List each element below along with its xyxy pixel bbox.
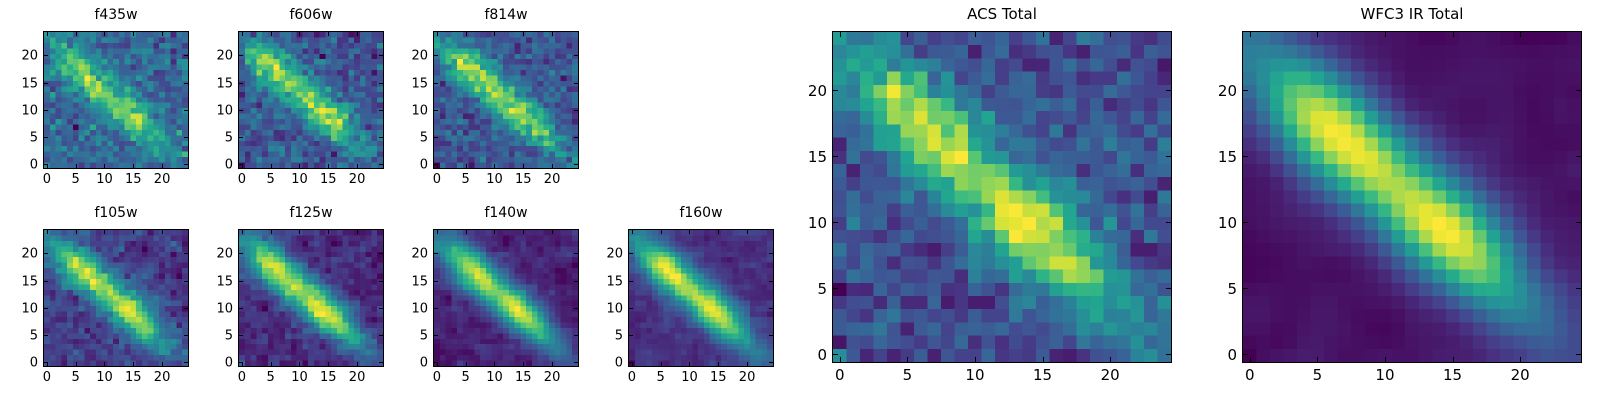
- xtick-label: 15: [1443, 366, 1462, 384]
- ytick-label: 15: [411, 274, 428, 289]
- xtick-mark: [907, 357, 908, 362]
- ytick-label: 20: [1218, 82, 1237, 100]
- xtick-mark-top: [466, 230, 467, 234]
- ytick-mark-right: [1576, 222, 1581, 223]
- ytick-mark-right: [1576, 156, 1581, 157]
- ytick-mark: [833, 156, 838, 157]
- panel-title-f160w: f160w: [628, 205, 774, 221]
- ytick-label: 10: [411, 103, 428, 118]
- ytick-mark: [44, 253, 48, 254]
- ytick-label: 15: [411, 76, 428, 91]
- ytick-label: 0: [1227, 346, 1237, 364]
- xtick-label: 20: [739, 370, 756, 385]
- ytick-mark-right: [574, 335, 578, 336]
- heatmap-image-wfc3-total: [1243, 32, 1581, 362]
- plot-area-f140w: [433, 229, 579, 367]
- ytick-mark: [629, 335, 633, 336]
- ytick-label: 15: [808, 148, 827, 166]
- ytick-mark-right: [1576, 354, 1581, 355]
- xtick-label: 20: [544, 172, 561, 187]
- xtick-label: 15: [1033, 366, 1052, 384]
- xtick-label: 0: [433, 172, 441, 187]
- ytick-mark-right: [574, 55, 578, 56]
- ytick-label: 5: [420, 131, 428, 146]
- xtick-label: 15: [515, 172, 532, 187]
- xtick-mark-top: [840, 32, 841, 37]
- ytick-mark-right: [574, 110, 578, 111]
- xtick-mark: [162, 164, 163, 168]
- panel-title-f105w: f105w: [43, 205, 189, 221]
- xtick-label: 5: [903, 366, 913, 384]
- xtick-label: 20: [544, 370, 561, 385]
- xtick-mark-top: [47, 230, 48, 234]
- ytick-label: 5: [1227, 280, 1237, 298]
- ytick-mark-right: [1576, 90, 1581, 91]
- ytick-mark: [239, 335, 243, 336]
- ytick-mark-right: [1166, 156, 1171, 157]
- xtick-mark-top: [437, 230, 438, 234]
- xtick-mark: [1043, 357, 1044, 362]
- xtick-mark: [271, 362, 272, 366]
- xtick-mark-top: [47, 32, 48, 36]
- xtick-label: 10: [96, 370, 113, 385]
- panel-title-f140w: f140w: [433, 205, 579, 221]
- heatmap-image-f140w: [434, 230, 578, 366]
- ytick-mark-right: [574, 253, 578, 254]
- xtick-label: 5: [72, 172, 80, 187]
- xtick-label: 20: [1101, 366, 1120, 384]
- xtick-mark-top: [271, 32, 272, 36]
- ytick-mark: [434, 253, 438, 254]
- ytick-mark-right: [379, 137, 383, 138]
- xtick-mark-top: [494, 230, 495, 234]
- xtick-label: 15: [710, 370, 727, 385]
- ytick-mark: [1243, 288, 1248, 289]
- xtick-label: 5: [657, 370, 665, 385]
- ytick-label: 0: [817, 346, 827, 364]
- ytick-label: 15: [21, 274, 38, 289]
- ytick-mark: [434, 362, 438, 363]
- ytick-mark-right: [1166, 354, 1171, 355]
- ytick-mark-right: [379, 335, 383, 336]
- figure-canvas: f435w0510152005101520f606w05101520051015…: [0, 0, 1600, 400]
- ytick-mark: [434, 110, 438, 111]
- ytick-label: 5: [420, 329, 428, 344]
- ytick-mark-right: [574, 308, 578, 309]
- panel-acs-total: ACS Total0510152005101520: [832, 5, 1172, 393]
- xtick-mark-top: [328, 32, 329, 36]
- panel-title-f814w: f814w: [433, 7, 579, 23]
- ytick-label: 20: [216, 49, 233, 64]
- ytick-mark: [239, 164, 243, 165]
- panel-f140w: f140w0510152005101520: [433, 205, 579, 397]
- ytick-label: 10: [808, 214, 827, 232]
- xtick-label: 0: [628, 370, 636, 385]
- ytick-mark-right: [184, 362, 188, 363]
- panel-title-f125w: f125w: [238, 205, 384, 221]
- xtick-label: 10: [291, 370, 308, 385]
- ytick-mark: [833, 90, 838, 91]
- xtick-mark: [466, 164, 467, 168]
- xtick-label: 0: [433, 370, 441, 385]
- xtick-mark: [689, 362, 690, 366]
- panel-wfc3-total: WFC3 IR Total0510152005101520: [1242, 5, 1582, 393]
- xtick-mark-top: [162, 32, 163, 36]
- heatmap-image-f435w: [44, 32, 188, 168]
- ytick-mark-right: [574, 362, 578, 363]
- panel-f125w: f125w0510152005101520: [238, 205, 384, 397]
- ytick-label: 0: [420, 158, 428, 173]
- ytick-label: 15: [1218, 148, 1237, 166]
- ytick-mark: [1243, 90, 1248, 91]
- ytick-mark: [44, 55, 48, 56]
- xtick-mark: [104, 362, 105, 366]
- ytick-label: 0: [30, 356, 38, 371]
- xtick-mark: [747, 362, 748, 366]
- xtick-mark-top: [907, 32, 908, 37]
- ytick-label: 5: [225, 329, 233, 344]
- plot-area-wfc3-total: [1242, 31, 1582, 363]
- ytick-mark: [44, 110, 48, 111]
- xtick-mark: [299, 362, 300, 366]
- ytick-mark: [1243, 156, 1248, 157]
- plot-area-acs-total: [832, 31, 1172, 363]
- xtick-mark-top: [632, 230, 633, 234]
- ytick-label: 10: [411, 301, 428, 316]
- xtick-mark: [357, 362, 358, 366]
- xtick-label: 20: [349, 172, 366, 187]
- ytick-mark-right: [379, 55, 383, 56]
- ytick-label: 5: [817, 280, 827, 298]
- xtick-mark: [523, 164, 524, 168]
- ytick-mark-right: [184, 164, 188, 165]
- ytick-label: 10: [606, 301, 623, 316]
- ytick-mark-right: [379, 281, 383, 282]
- heatmap-image-acs-total: [833, 32, 1171, 362]
- ytick-mark-right: [184, 253, 188, 254]
- xtick-mark-top: [1520, 32, 1521, 37]
- xtick-mark-top: [299, 230, 300, 234]
- ytick-mark: [239, 281, 243, 282]
- xtick-label: 0: [1245, 366, 1255, 384]
- plot-area-f435w: [43, 31, 189, 169]
- ytick-label: 15: [216, 76, 233, 91]
- xtick-mark-top: [1453, 32, 1454, 37]
- panel-title-wfc3-total: WFC3 IR Total: [1242, 5, 1582, 23]
- ytick-label: 15: [216, 274, 233, 289]
- ytick-label: 10: [21, 103, 38, 118]
- ytick-mark-right: [379, 308, 383, 309]
- xtick-mark-top: [1110, 32, 1111, 37]
- xtick-label: 20: [154, 172, 171, 187]
- ytick-mark-right: [184, 83, 188, 84]
- ytick-label: 5: [30, 329, 38, 344]
- xtick-mark-top: [76, 230, 77, 234]
- xtick-mark-top: [1043, 32, 1044, 37]
- xtick-label: 5: [72, 370, 80, 385]
- xtick-label: 10: [486, 172, 503, 187]
- ytick-mark: [629, 253, 633, 254]
- panel-title-acs-total: ACS Total: [832, 5, 1172, 23]
- ytick-mark-right: [1166, 288, 1171, 289]
- ytick-mark: [629, 281, 633, 282]
- xtick-mark-top: [494, 32, 495, 36]
- ytick-label: 20: [21, 49, 38, 64]
- xtick-mark: [1250, 357, 1251, 362]
- ytick-mark: [239, 83, 243, 84]
- xtick-mark-top: [1250, 32, 1251, 37]
- heatmap-image-f105w: [44, 230, 188, 366]
- plot-area-f160w: [628, 229, 774, 367]
- xtick-label: 0: [238, 172, 246, 187]
- xtick-mark: [328, 164, 329, 168]
- xtick-label: 10: [1375, 366, 1394, 384]
- xtick-label: 5: [267, 370, 275, 385]
- ytick-mark-right: [379, 362, 383, 363]
- xtick-mark: [718, 362, 719, 366]
- plot-area-f105w: [43, 229, 189, 367]
- xtick-label: 5: [462, 370, 470, 385]
- xtick-mark-top: [975, 32, 976, 37]
- ytick-mark: [44, 362, 48, 363]
- xtick-label: 0: [43, 172, 51, 187]
- heatmap-image-f606w: [239, 32, 383, 168]
- ytick-mark: [434, 335, 438, 336]
- xtick-mark: [494, 164, 495, 168]
- xtick-mark: [552, 362, 553, 366]
- ytick-mark-right: [574, 137, 578, 138]
- xtick-mark: [661, 362, 662, 366]
- xtick-label: 20: [349, 370, 366, 385]
- ytick-mark: [629, 362, 633, 363]
- ytick-label: 20: [21, 247, 38, 262]
- ytick-mark-right: [184, 335, 188, 336]
- ytick-label: 20: [606, 247, 623, 262]
- xtick-mark: [104, 164, 105, 168]
- ytick-mark-right: [184, 281, 188, 282]
- ytick-label: 5: [615, 329, 623, 344]
- ytick-label: 0: [30, 158, 38, 173]
- xtick-mark: [552, 164, 553, 168]
- xtick-mark: [466, 362, 467, 366]
- panel-f606w: f606w0510152005101520: [238, 7, 384, 199]
- xtick-mark-top: [689, 230, 690, 234]
- xtick-mark-top: [718, 230, 719, 234]
- xtick-mark-top: [1385, 32, 1386, 37]
- xtick-mark-top: [162, 230, 163, 234]
- xtick-mark-top: [242, 32, 243, 36]
- ytick-mark-right: [379, 164, 383, 165]
- ytick-mark-right: [769, 253, 773, 254]
- xtick-mark: [76, 164, 77, 168]
- xtick-mark: [840, 357, 841, 362]
- ytick-mark: [434, 137, 438, 138]
- xtick-mark-top: [552, 32, 553, 36]
- xtick-mark-top: [357, 32, 358, 36]
- xtick-label: 10: [96, 172, 113, 187]
- ytick-mark: [1243, 222, 1248, 223]
- ytick-mark-right: [769, 335, 773, 336]
- ytick-mark: [434, 55, 438, 56]
- xtick-label: 20: [1511, 366, 1530, 384]
- ytick-label: 0: [420, 356, 428, 371]
- ytick-mark-right: [379, 83, 383, 84]
- xtick-mark: [1453, 357, 1454, 362]
- ytick-mark: [629, 308, 633, 309]
- ytick-mark-right: [769, 281, 773, 282]
- plot-area-f125w: [238, 229, 384, 367]
- ytick-mark-right: [574, 83, 578, 84]
- ytick-label: 0: [225, 158, 233, 173]
- xtick-mark-top: [523, 230, 524, 234]
- heatmap-image-f814w: [434, 32, 578, 168]
- xtick-mark: [1110, 357, 1111, 362]
- xtick-mark: [299, 164, 300, 168]
- ytick-mark-right: [184, 55, 188, 56]
- ytick-label: 15: [606, 274, 623, 289]
- ytick-mark-right: [1166, 222, 1171, 223]
- ytick-mark-right: [379, 253, 383, 254]
- ytick-label: 20: [216, 247, 233, 262]
- ytick-mark: [239, 362, 243, 363]
- xtick-label: 10: [681, 370, 698, 385]
- ytick-mark: [434, 164, 438, 165]
- xtick-mark-top: [466, 32, 467, 36]
- xtick-label: 0: [238, 370, 246, 385]
- xtick-label: 20: [154, 370, 171, 385]
- xtick-label: 5: [267, 172, 275, 187]
- ytick-mark: [434, 281, 438, 282]
- ytick-mark: [239, 308, 243, 309]
- xtick-mark-top: [747, 230, 748, 234]
- xtick-label: 0: [835, 366, 845, 384]
- ytick-mark-right: [1166, 90, 1171, 91]
- ytick-mark: [44, 83, 48, 84]
- xtick-mark-top: [523, 32, 524, 36]
- xtick-mark: [494, 362, 495, 366]
- ytick-label: 5: [225, 131, 233, 146]
- xtick-mark-top: [328, 230, 329, 234]
- xtick-label: 10: [291, 172, 308, 187]
- plot-area-f606w: [238, 31, 384, 169]
- xtick-mark-top: [1317, 32, 1318, 37]
- ytick-mark: [44, 308, 48, 309]
- xtick-label: 15: [125, 172, 142, 187]
- xtick-mark-top: [104, 32, 105, 36]
- xtick-label: 10: [486, 370, 503, 385]
- xtick-mark: [162, 362, 163, 366]
- ytick-mark: [1243, 354, 1248, 355]
- ytick-mark: [239, 110, 243, 111]
- ytick-mark: [239, 137, 243, 138]
- panel-title-f606w: f606w: [238, 7, 384, 23]
- ytick-label: 20: [808, 82, 827, 100]
- ytick-mark-right: [379, 110, 383, 111]
- xtick-mark-top: [271, 230, 272, 234]
- panel-f160w: f160w0510152005101520: [628, 205, 774, 397]
- xtick-mark-top: [552, 230, 553, 234]
- ytick-mark-right: [574, 281, 578, 282]
- ytick-mark: [434, 308, 438, 309]
- heatmap-image-f160w: [629, 230, 773, 366]
- ytick-mark: [833, 354, 838, 355]
- xtick-mark: [271, 164, 272, 168]
- xtick-label: 5: [1313, 366, 1323, 384]
- xtick-mark: [1317, 357, 1318, 362]
- xtick-mark: [357, 164, 358, 168]
- ytick-label: 10: [216, 103, 233, 118]
- ytick-mark-right: [1576, 288, 1581, 289]
- ytick-mark: [833, 222, 838, 223]
- xtick-mark: [1385, 357, 1386, 362]
- ytick-mark-right: [769, 362, 773, 363]
- xtick-label: 15: [320, 370, 337, 385]
- xtick-mark: [523, 362, 524, 366]
- xtick-mark-top: [661, 230, 662, 234]
- ytick-mark: [44, 335, 48, 336]
- heatmap-image-f125w: [239, 230, 383, 366]
- xtick-mark: [975, 357, 976, 362]
- ytick-label: 0: [615, 356, 623, 371]
- ytick-mark: [434, 83, 438, 84]
- xtick-label: 0: [43, 370, 51, 385]
- ytick-label: 20: [411, 247, 428, 262]
- xtick-mark-top: [437, 32, 438, 36]
- xtick-mark: [76, 362, 77, 366]
- ytick-mark: [239, 253, 243, 254]
- ytick-label: 10: [1218, 214, 1237, 232]
- ytick-mark: [44, 164, 48, 165]
- ytick-mark: [833, 288, 838, 289]
- ytick-mark: [239, 55, 243, 56]
- xtick-label: 5: [462, 172, 470, 187]
- xtick-mark-top: [299, 32, 300, 36]
- ytick-label: 20: [411, 49, 428, 64]
- xtick-label: 15: [125, 370, 142, 385]
- xtick-mark-top: [242, 230, 243, 234]
- xtick-mark: [133, 164, 134, 168]
- ytick-mark-right: [574, 164, 578, 165]
- xtick-mark: [133, 362, 134, 366]
- ytick-label: 15: [21, 76, 38, 91]
- ytick-mark-right: [184, 308, 188, 309]
- xtick-label: 10: [965, 366, 984, 384]
- xtick-mark-top: [104, 230, 105, 234]
- ytick-mark: [44, 137, 48, 138]
- xtick-mark: [1520, 357, 1521, 362]
- ytick-mark-right: [184, 137, 188, 138]
- ytick-mark-right: [769, 308, 773, 309]
- ytick-label: 5: [30, 131, 38, 146]
- panel-f105w: f105w0510152005101520: [43, 205, 189, 397]
- xtick-mark-top: [133, 32, 134, 36]
- xtick-label: 15: [515, 370, 532, 385]
- xtick-mark-top: [76, 32, 77, 36]
- xtick-mark-top: [357, 230, 358, 234]
- xtick-mark: [328, 362, 329, 366]
- xtick-mark-top: [133, 230, 134, 234]
- panel-f435w: f435w0510152005101520: [43, 7, 189, 199]
- plot-area-f814w: [433, 31, 579, 169]
- xtick-label: 15: [320, 172, 337, 187]
- panel-f814w: f814w0510152005101520: [433, 7, 579, 199]
- ytick-label: 0: [225, 356, 233, 371]
- ytick-label: 10: [216, 301, 233, 316]
- ytick-label: 10: [21, 301, 38, 316]
- ytick-mark-right: [184, 110, 188, 111]
- ytick-mark: [44, 281, 48, 282]
- panel-title-f435w: f435w: [43, 7, 189, 23]
